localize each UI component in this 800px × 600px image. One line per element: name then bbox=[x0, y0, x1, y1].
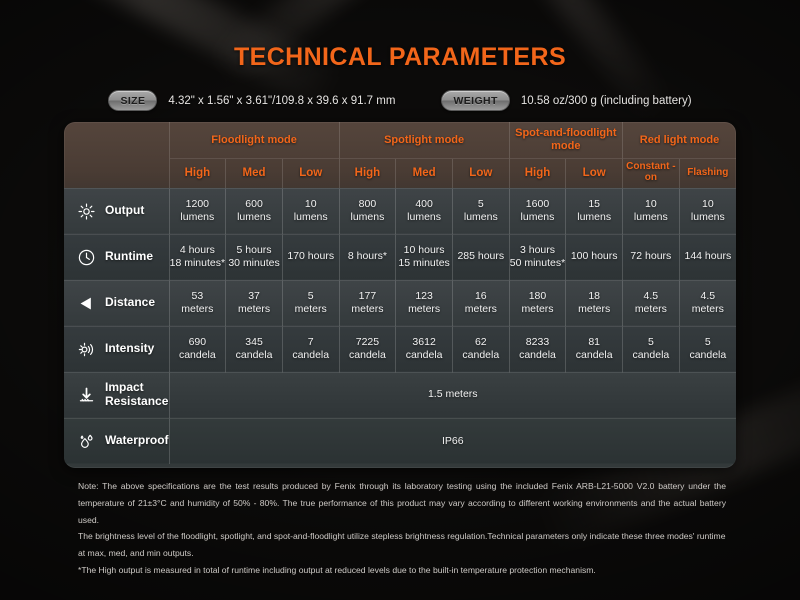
table-cell: 4.5meters bbox=[623, 280, 680, 326]
table-cell: 5lumens bbox=[452, 188, 509, 234]
note-paragraph: *The High output is measured in total of… bbox=[78, 562, 726, 579]
beam-icon bbox=[77, 294, 96, 313]
row-label-impact-resistance: Impact Resistance bbox=[64, 372, 169, 418]
table-cell: 400lumens bbox=[396, 188, 453, 234]
table-row-impact-resistance: Impact Resistance 1.5 meters bbox=[64, 372, 736, 418]
table-cell: 18meters bbox=[566, 280, 623, 326]
waterdrop-icon bbox=[77, 432, 96, 451]
mode-group-red-light: Red light mode bbox=[623, 122, 736, 158]
level-spotflood-low: Low bbox=[566, 158, 623, 188]
table-row-runtime: Runtime 4 hours18 minutes* 5 hours30 min… bbox=[64, 234, 736, 280]
table-row-output: Output 1200lumens 600lumens 10lumens 800… bbox=[64, 188, 736, 234]
weight-badge: WEIGHT bbox=[441, 90, 509, 111]
level-spotflood-high: High bbox=[509, 158, 566, 188]
row-label-output: Output bbox=[64, 188, 169, 234]
level-spotlight-low: Low bbox=[452, 158, 509, 188]
table-cell: 285 hours bbox=[452, 234, 509, 280]
table-cell: 345candela bbox=[226, 326, 283, 372]
spec-weight: WEIGHT 10.58 oz/300 g (including battery… bbox=[441, 90, 691, 111]
intensity-icon bbox=[77, 340, 96, 359]
table-cell: 7225candela bbox=[339, 326, 396, 372]
table-cell: 10lumens bbox=[679, 188, 736, 234]
table-cell: 1200lumens bbox=[169, 188, 226, 234]
waterproof-value: IP66 bbox=[169, 418, 736, 464]
table-cell: 53meters bbox=[169, 280, 226, 326]
row-label-intensity: Intensity bbox=[64, 326, 169, 372]
header-spacer bbox=[64, 122, 169, 158]
impact-icon bbox=[77, 386, 96, 405]
table-cell: 16meters bbox=[452, 280, 509, 326]
row-label-runtime: Runtime bbox=[64, 234, 169, 280]
specifications-table: Floodlight mode Spotlight mode Spot-and-… bbox=[64, 122, 736, 464]
notes-section: Note: The above specifications are the t… bbox=[78, 478, 726, 579]
table-cell: 81candela bbox=[566, 326, 623, 372]
table-cell: 170 hours bbox=[282, 234, 339, 280]
table-cell: 62candela bbox=[452, 326, 509, 372]
table-cell: 100 hours bbox=[566, 234, 623, 280]
row-label-text: Runtime bbox=[105, 250, 153, 264]
row-label-text: Output bbox=[105, 204, 144, 218]
table-cell: 800lumens bbox=[339, 188, 396, 234]
level-red-flashing: Flashing bbox=[679, 158, 736, 188]
table-cell: 177meters bbox=[339, 280, 396, 326]
size-value: 4.32" x 1.56" x 3.61"/109.8 x 39.6 x 91.… bbox=[168, 95, 395, 107]
table-header-levels: High Med Low High Med Low High Low Const… bbox=[64, 158, 736, 188]
mode-group-floodlight: Floodlight mode bbox=[169, 122, 339, 158]
table-cell: 3 hours50 minutes* bbox=[509, 234, 566, 280]
spec-summary: SIZE 4.32" x 1.56" x 3.61"/109.8 x 39.6 … bbox=[0, 90, 800, 111]
table-cell: 8 hours* bbox=[339, 234, 396, 280]
weight-value: 10.58 oz/300 g (including battery) bbox=[521, 95, 692, 107]
note-paragraph: The brightness level of the floodlight, … bbox=[78, 528, 726, 562]
mode-group-spot-and-floodlight: Spot-and-floodlight mode bbox=[509, 122, 622, 158]
level-red-constant-on: Constant -on bbox=[623, 158, 680, 188]
table-cell: 10lumens bbox=[282, 188, 339, 234]
level-floodlight-high: High bbox=[169, 158, 226, 188]
table-cell: 37meters bbox=[226, 280, 283, 326]
table-cell: 3612candela bbox=[396, 326, 453, 372]
page-title: TECHNICAL PARAMETERS bbox=[0, 43, 800, 72]
table-cell: 5candela bbox=[623, 326, 680, 372]
table-cell: 1600lumens bbox=[509, 188, 566, 234]
note-paragraph: Note: The above specifications are the t… bbox=[78, 478, 726, 528]
spec-size: SIZE 4.32" x 1.56" x 3.61"/109.8 x 39.6 … bbox=[108, 90, 395, 111]
table-row-intensity: Intensity 690candela 345candela 7candela… bbox=[64, 326, 736, 372]
table-cell: 5candela bbox=[679, 326, 736, 372]
level-floodlight-med: Med bbox=[226, 158, 283, 188]
table-row-distance: Distance 53meters 37meters 5meters 177me… bbox=[64, 280, 736, 326]
row-label-text: Distance bbox=[105, 296, 155, 310]
table-cell: 10 hours15 minutes bbox=[396, 234, 453, 280]
clock-icon bbox=[77, 248, 96, 267]
table-cell: 5meters bbox=[282, 280, 339, 326]
sun-icon bbox=[77, 202, 96, 221]
header-spacer bbox=[64, 158, 169, 188]
level-floodlight-low: Low bbox=[282, 158, 339, 188]
level-spotlight-high: High bbox=[339, 158, 396, 188]
table-cell: 600lumens bbox=[226, 188, 283, 234]
table-cell: 690candela bbox=[169, 326, 226, 372]
specifications-panel: Floodlight mode Spotlight mode Spot-and-… bbox=[64, 122, 736, 468]
table-cell: 15lumens bbox=[566, 188, 623, 234]
table-cell: 4.5meters bbox=[679, 280, 736, 326]
row-label-text: Waterproof bbox=[105, 434, 169, 448]
row-label-text: Intensity bbox=[105, 342, 154, 356]
table-cell: 8233candela bbox=[509, 326, 566, 372]
table-cell: 123meters bbox=[396, 280, 453, 326]
table-cell: 5 hours30 minutes bbox=[226, 234, 283, 280]
table-row-waterproof: Waterproof IP66 bbox=[64, 418, 736, 464]
row-label-text: Impact Resistance bbox=[105, 381, 169, 408]
row-label-waterproof: Waterproof bbox=[64, 418, 169, 464]
row-label-distance: Distance bbox=[64, 280, 169, 326]
table-cell: 10lumens bbox=[623, 188, 680, 234]
impact-resistance-value: 1.5 meters bbox=[169, 372, 736, 418]
table-cell: 72 hours bbox=[623, 234, 680, 280]
table-cell: 7candela bbox=[282, 326, 339, 372]
table-cell: 4 hours18 minutes* bbox=[169, 234, 226, 280]
table-header-modes: Floodlight mode Spotlight mode Spot-and-… bbox=[64, 122, 736, 158]
mode-group-spotlight: Spotlight mode bbox=[339, 122, 509, 158]
size-badge: SIZE bbox=[108, 90, 157, 111]
level-spotlight-med: Med bbox=[396, 158, 453, 188]
table-cell: 144 hours bbox=[679, 234, 736, 280]
table-cell: 180meters bbox=[509, 280, 566, 326]
